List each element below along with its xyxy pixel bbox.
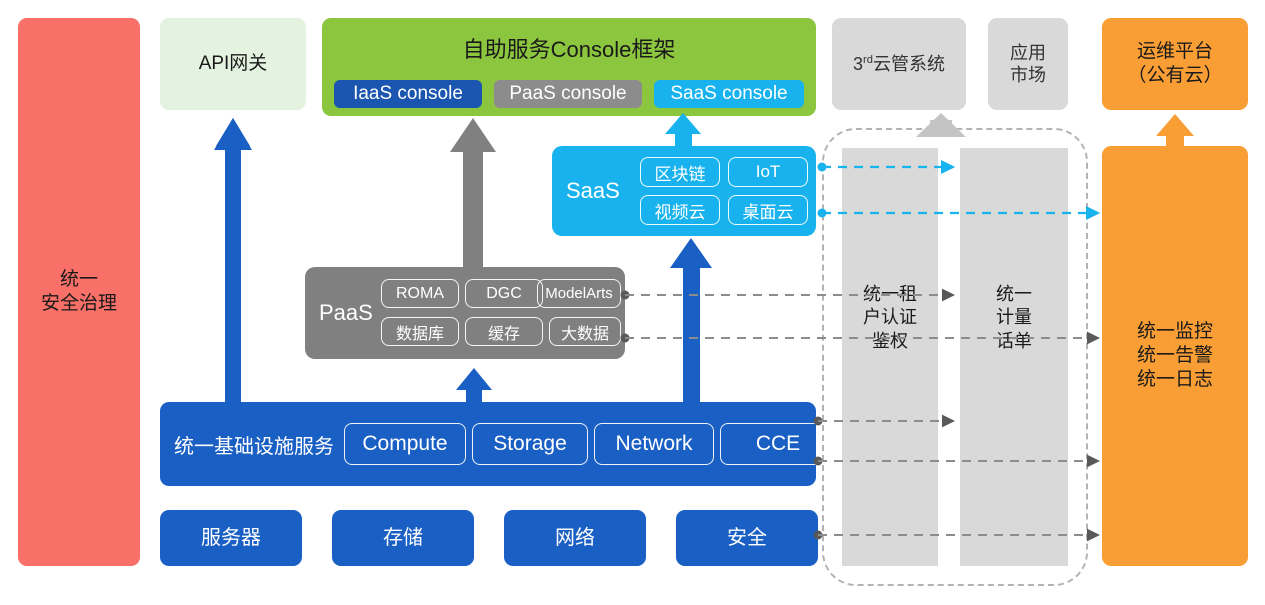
infra-tag-network-label: Network: [615, 432, 692, 456]
hardware-item-security: 安全: [676, 510, 818, 566]
api-gateway-label: API网关: [199, 52, 268, 76]
hardware-item-storage-label: 存储: [383, 526, 423, 551]
paas-tag-roma[interactable]: ROMA: [381, 279, 459, 308]
third-party-cloud-mgmt-label: 3rd云管系统: [853, 53, 945, 76]
paas-tag-cache[interactable]: 缓存: [465, 317, 543, 346]
security-governance-panel: 统一 安全治理: [18, 18, 140, 566]
infrastructure-layer-box: 统一基础设施服务 Compute Storage Network CCE: [160, 402, 816, 486]
ops-platform-box: 运维平台 （公有云）: [1102, 18, 1248, 110]
paas-console-label: PaaS console: [509, 83, 626, 105]
self-service-console-frame: 自助服务Console框架 IaaS console PaaS console …: [322, 18, 816, 116]
third-party-prefix: 3: [853, 54, 863, 74]
paas-tag-roma-label: ROMA: [396, 285, 444, 303]
metering-service-label: 统一 计量 话单: [960, 283, 1068, 353]
saas-tag-video-cloud[interactable]: 视频云: [640, 195, 720, 225]
paas-tag-dgc-label: DGC: [486, 285, 522, 303]
hardware-item-network-label: 网络: [555, 526, 595, 551]
hardware-item-storage: 存储: [332, 510, 474, 566]
arrow-saas-to-console: [665, 113, 701, 146]
hardware-item-server: 服务器: [160, 510, 302, 566]
infrastructure-layer-label: 统一基础设施服务: [174, 402, 334, 486]
console-frame-title: 自助服务Console框架: [322, 32, 816, 64]
paas-console-chip[interactable]: PaaS console: [494, 80, 642, 108]
hardware-item-network: 网络: [504, 510, 646, 566]
third-party-suffix: 云管系统: [873, 54, 945, 74]
saas-tag-desktop-cloud-label: 桌面云: [743, 198, 794, 223]
paas-tag-modelarts-label: ModelArts: [545, 285, 613, 302]
saas-layer-label: SaaS: [566, 146, 620, 236]
auth-service-column: [842, 148, 938, 566]
arrow-monitoring-to-ops-platform: [1156, 114, 1194, 146]
paas-tag-bigdata[interactable]: 大数据: [549, 317, 621, 346]
saas-tag-blockchain[interactable]: 区块链: [640, 157, 720, 187]
hardware-item-server-label: 服务器: [201, 526, 261, 551]
infra-tag-storage-label: Storage: [493, 432, 567, 456]
infra-tag-storage[interactable]: Storage: [472, 423, 588, 465]
iaas-console-chip[interactable]: IaaS console: [334, 80, 482, 108]
paas-layer-box: PaaS ROMA DGC ModelArts 数据库 缓存 大数据: [305, 267, 625, 359]
infra-tag-compute[interactable]: Compute: [344, 423, 466, 465]
saas-console-label: SaaS console: [670, 83, 787, 105]
arrow-infra-to-saas: [670, 238, 712, 402]
arrow-paas-to-console: [450, 118, 496, 267]
monitoring-panel-label: 统一监控 统一告警 统一日志: [1137, 320, 1213, 391]
paas-tag-modelarts[interactable]: ModelArts: [537, 279, 621, 308]
infra-tag-cce-label: CCE: [756, 432, 800, 456]
saas-console-chip[interactable]: SaaS console: [654, 80, 804, 108]
paas-tag-database[interactable]: 数据库: [381, 317, 459, 346]
paas-layer-label: PaaS: [319, 267, 373, 359]
saas-tag-iot[interactable]: IoT: [728, 157, 808, 187]
ops-platform-label: 运维平台 （公有云）: [1127, 40, 1222, 88]
saas-tag-video-cloud-label: 视频云: [655, 198, 706, 223]
app-market-label: 应用 市场: [1010, 42, 1046, 87]
security-governance-label: 统一 安全治理: [41, 268, 117, 316]
paas-tag-database-label: 数据库: [396, 320, 444, 344]
third-party-cloud-mgmt-box: 3rd云管系统: [832, 18, 966, 110]
architecture-diagram: 统一 安全治理 API网关 自助服务Console框架 IaaS console…: [0, 0, 1265, 605]
paas-tag-cache-label: 缓存: [488, 320, 520, 344]
monitoring-panel: 统一监控 统一告警 统一日志: [1102, 146, 1248, 566]
saas-tag-blockchain-label: 区块链: [655, 160, 706, 185]
infra-tag-cce[interactable]: CCE: [720, 423, 836, 465]
hardware-item-security-label: 安全: [727, 526, 767, 551]
metering-service-column: [960, 148, 1068, 566]
api-gateway-box: API网关: [160, 18, 306, 110]
paas-tag-bigdata-label: 大数据: [561, 320, 609, 344]
saas-tag-iot-label: IoT: [756, 162, 781, 182]
paas-tag-dgc[interactable]: DGC: [465, 279, 543, 308]
arrow-infra-to-api-gateway: [214, 118, 252, 402]
saas-tag-desktop-cloud[interactable]: 桌面云: [728, 195, 808, 225]
infra-tag-network[interactable]: Network: [594, 423, 714, 465]
app-market-box: 应用 市场: [988, 18, 1068, 110]
arrow-infra-to-paas: [456, 368, 492, 402]
saas-layer-box: SaaS 区块链 IoT 视频云 桌面云: [552, 146, 816, 236]
auth-service-label: 统一租 户认证 鉴权: [842, 283, 938, 353]
iaas-console-label: IaaS console: [353, 83, 463, 105]
infra-tag-compute-label: Compute: [362, 432, 447, 456]
third-party-superscript: rd: [863, 54, 873, 66]
